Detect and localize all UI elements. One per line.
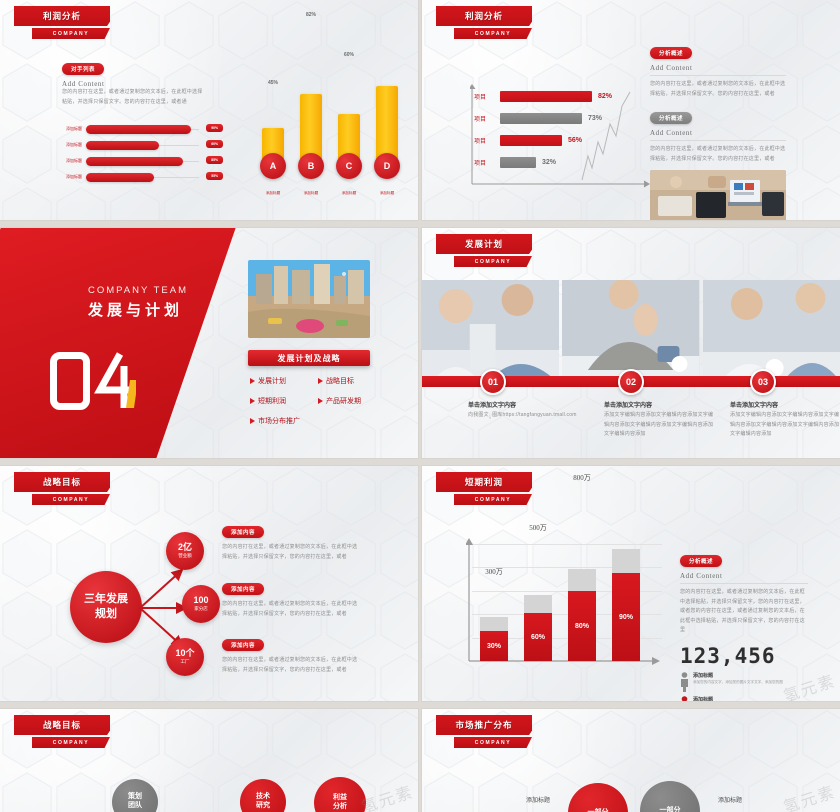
company-subtitle: COMPANY xyxy=(454,28,532,39)
stacked-bar-chart: 300万 30% 500万 60% 800万 80% 1000万 90% xyxy=(458,538,668,683)
center-line2: 规划 xyxy=(84,607,128,622)
badge-analysis-overview: 分析概述 xyxy=(650,112,692,124)
badge-add-content: 添加内容 xyxy=(222,583,264,595)
bar-axis-label: 添加标题 xyxy=(372,191,402,196)
slide-title-ribbon: 短期利润 COMPANY xyxy=(436,472,532,505)
person-gray-icon xyxy=(680,672,689,692)
list-item[interactable]: 战略目标 xyxy=(318,376,380,386)
divider xyxy=(680,583,808,584)
progress-value: 55% xyxy=(206,172,223,180)
center-circle: 三年发展 规划 xyxy=(70,571,142,643)
section-button[interactable]: 发展计划及战略 xyxy=(248,350,370,366)
watermark: 氢元素 xyxy=(780,778,839,812)
list-item[interactable]: 市场分布推广 xyxy=(250,416,312,426)
slide-thumbnail-grid: 利润分析 COMPANY 对手列表 Add Content 您的内容打在这里，或… xyxy=(0,0,840,812)
slide-title: 战略目标 xyxy=(14,472,110,492)
circle-line1: 利益 xyxy=(333,794,347,803)
triangle-bullet-icon xyxy=(318,398,323,404)
slide-thumbnail-5[interactable]: 战略目标 COMPANY 三年发展 规划 2亿 营业额 100 家分店 10个 xyxy=(0,466,418,701)
summary-paragraph: 您的内容打在这里，或者通过复制您的文本后，在此框中选择粘贴，并选择只保留文字，您… xyxy=(680,588,808,636)
progress-label: 添加标题 xyxy=(56,158,82,164)
satellite-unit: 营业额 xyxy=(178,553,192,559)
red-diagonal-band xyxy=(0,228,240,458)
center-line1: 三年发展 xyxy=(84,592,128,607)
circle-technology: 技术 研究 xyxy=(240,779,286,812)
step-text: 添加文字编辑内容添加文字编辑内容添加文字编辑内容添加文字编辑内容添加文字编辑内容… xyxy=(730,411,840,440)
analysis-blocks: 分析概述 Add Content 您的内容打在这里，或者通过复制您的文本后，在此… xyxy=(650,42,786,220)
circle-segment-red: 一部分 xyxy=(568,783,628,812)
bar-value-label: 60% xyxy=(334,52,364,58)
circle-line1: 策划 xyxy=(128,793,142,802)
step-number-02: 02 xyxy=(618,369,644,395)
slide-title-ribbon: 市场推广分布 COMPANY xyxy=(436,715,532,748)
circle-segment-gray: 一部分 xyxy=(640,781,700,812)
bar-value: 82% xyxy=(598,93,612,100)
legend-row-2: 添加标题 添加您的内容文字、添加您的图片文字文字、添加您的图 xyxy=(680,696,808,702)
bar-category: 项目 xyxy=(474,92,500,101)
satellite-circle-3: 10个 工厂 xyxy=(166,638,204,676)
progress-bar-list: 添加标题 90% 添加标题 60% 添加标题 85% 添加标题 55% xyxy=(56,122,221,186)
percent-label: 60% xyxy=(524,613,552,661)
satellite-circle-1: 2亿 营业额 xyxy=(166,532,204,570)
step-heading: 单击添加文字内容 xyxy=(468,400,580,409)
step-card-1: 单击添加文字内容 向我图文ူ图库https://tangfangyuan.tma… xyxy=(468,400,580,421)
step-number-01: 01 xyxy=(480,369,506,395)
right-label: 添加标题 xyxy=(718,795,742,804)
slide-title: 战略目标 xyxy=(14,715,110,735)
legend-heading: 添加标题 xyxy=(693,672,783,679)
company-subtitle: COMPANY xyxy=(32,494,110,505)
slide1-paragraph: 您的内容打在这里，或者通过复制您的文本后，在此框中选择粘贴，并选择只保留文字。您… xyxy=(62,88,204,107)
satellite-value: 100 xyxy=(193,596,208,605)
legend-heading: 添加标题 xyxy=(693,696,783,702)
bar-category: 项目 xyxy=(474,136,500,145)
triangle-bullet-icon xyxy=(250,398,255,404)
big-number: 123,456 xyxy=(680,644,808,668)
progress-value: 90% xyxy=(206,124,223,132)
analysis-paragraph: 您的内容打在这里，或者通过复制您的文本后，在此框中选择粘贴，并选择只保留文字。您… xyxy=(650,80,786,99)
slide-title-ribbon: 利润分析 COMPANY xyxy=(14,6,110,39)
circle-line1: 一部分 xyxy=(660,807,681,812)
meeting-photo-3 xyxy=(703,280,840,384)
detail-text: 您的内容打在这里，或者通过复制您的文本后，在此框中选择粘贴，并选择只保留文字，您… xyxy=(222,656,362,675)
circle-line1: 技术 xyxy=(256,793,270,802)
bar-category: 项目 xyxy=(474,158,500,167)
percent-label: 30% xyxy=(480,631,508,661)
list-item-label: 市场分布推广 xyxy=(258,416,300,426)
person-red-icon xyxy=(680,696,689,702)
bar-category-b: B xyxy=(298,153,324,179)
bar-row: 项目 73% xyxy=(474,110,652,126)
progress-row: 添加标题 60% xyxy=(56,138,221,152)
step-text: 添加文字编辑内容添加文字编辑内容添加文字编辑内容添加文字编辑内容添加文字编辑内容… xyxy=(604,411,716,440)
bar-category-a: A xyxy=(260,153,286,179)
badge-competitor-list: 对手列表 xyxy=(62,63,104,75)
satellite-value: 2亿 xyxy=(178,543,192,552)
detail-text: 您的内容打在这里，或者通过复制您的文本后，在此框中选择粘贴，并选择只保留文字，您… xyxy=(222,600,362,619)
percent-label: 90% xyxy=(612,573,640,661)
slide-title-ribbon: 发展计划 COMPANY xyxy=(436,234,532,267)
bar-axis-label: 添加标题 xyxy=(334,191,364,196)
detail-block-3: 添加内容 您的内容打在这里，或者通过复制您的文本后，在此框中选择粘贴，并选择只保… xyxy=(222,634,362,675)
bar-category: 项目 xyxy=(474,114,500,123)
bar-value-label: 82% xyxy=(296,12,326,18)
satellite-unit: 家分店 xyxy=(194,606,208,612)
circle-line2: 研究 xyxy=(256,802,270,811)
list-item[interactable]: 产品研发期 xyxy=(318,396,380,406)
step-card-3: 单击添加文字内容 添加文字编辑内容添加文字编辑内容添加文字编辑内容添加文字编辑内… xyxy=(730,400,840,440)
circle-benefit: 利益 分析 xyxy=(314,777,366,812)
bar-category-c: C xyxy=(336,153,362,179)
section-number xyxy=(50,352,136,410)
legend-row-1: 添加标题 添加您的内容文字、添加您的图片文字文字、添加您的图 xyxy=(680,672,808,692)
progress-row: 添加标题 85% xyxy=(56,154,221,168)
satellite-circle-2: 100 家分店 xyxy=(182,585,220,623)
city-photo xyxy=(248,260,370,338)
legend-text: 添加您的内容文字、添加您的图片文字文字、添加您的图 xyxy=(693,679,783,685)
progress-row: 添加标题 55% xyxy=(56,170,221,184)
triangle-bullet-icon xyxy=(318,378,323,384)
bar-row: 项目 82% xyxy=(474,88,652,104)
add-content-label: Add Content xyxy=(62,80,204,88)
satellite-unit: 工厂 xyxy=(181,659,190,665)
step-heading: 单击添加文字内容 xyxy=(604,400,716,409)
horizontal-bar-chart: 项目 82% 项目 73% 项目 56% 项目 32% xyxy=(462,84,652,194)
list-item-label: 产品研发期 xyxy=(326,396,361,406)
satellite-value: 10个 xyxy=(175,649,194,658)
slide-thumbnail-3[interactable]: COMPANY TEAM 发展与计划 04 xyxy=(0,228,418,458)
detail-block-1: 添加内容 您的内容打在这里，或者通过复制您的文本后，在此框中选择粘贴，并选择只保… xyxy=(222,521,362,562)
analysis-block: 分析概述 Add Content 您的内容打在这里，或者通过复制您的文本后，在此… xyxy=(650,42,786,99)
total-label: 800万 xyxy=(560,473,604,483)
progress-row: 添加标题 90% xyxy=(56,122,221,136)
add-content-label: Add Content xyxy=(650,129,786,137)
list-item-label: 战略目标 xyxy=(326,376,354,386)
list-item-label: 短期利润 xyxy=(258,396,286,406)
company-subtitle: COMPANY xyxy=(454,256,532,267)
badge-add-content: 添加内容 xyxy=(222,639,264,651)
company-subtitle: COMPANY xyxy=(454,494,532,505)
circle-line1: 一部分 xyxy=(588,809,609,812)
bar-value: 56% xyxy=(568,137,582,144)
slide-title: 利润分析 xyxy=(436,6,532,26)
circle-line2: 团队 xyxy=(128,802,142,811)
section-title: 发展与计划 xyxy=(88,299,183,320)
bar-axis-label: 添加标题 xyxy=(296,191,326,196)
analysis-block: 分析概述 Add Content 您的内容打在这里，或者通过复制您的文本后，在此… xyxy=(650,107,786,164)
list-item[interactable]: 短期利润 xyxy=(250,396,312,406)
progress-label: 添加标题 xyxy=(56,142,82,148)
slide-title: 市场推广分布 xyxy=(436,715,532,735)
bar-value-label: 45% xyxy=(258,80,288,86)
total-label: 300万 xyxy=(472,567,516,577)
badge-analysis-overview: 分析概述 xyxy=(680,555,722,567)
detail-block-2: 添加内容 您的内容打在这里，或者通过复制您的文本后，在此框中选择粘贴，并选择只保… xyxy=(222,578,362,619)
add-content-label: Add Content xyxy=(650,64,786,72)
company-subtitle: COMPANY xyxy=(32,737,110,748)
watermark: 氢元素 xyxy=(358,778,417,812)
digit-four-icon xyxy=(94,352,136,410)
badge-analysis-overview: 分析概述 xyxy=(650,47,692,59)
bar-row: 项目 56% xyxy=(474,132,652,148)
company-subtitle: COMPANY xyxy=(454,737,532,748)
column-chart: 45% A 添加标题 82% B 添加标题 60% C 添加标题 90% D xyxy=(252,66,398,192)
slide-thumbnail-1[interactable]: 利润分析 COMPANY 对手列表 Add Content 您的内容打在这里，或… xyxy=(0,0,418,220)
percent-label: 80% xyxy=(568,591,596,661)
company-subtitle: COMPANY xyxy=(32,28,110,39)
analysis-paragraph: 您的内容打在这里，或者通过复制您的文本后，在此框中选择粘贴，并选择只保留文字。您… xyxy=(650,145,786,164)
bar-axis-label: 添加标题 xyxy=(258,191,288,196)
divider xyxy=(650,75,786,76)
slide-thumbnail-7[interactable]: 战略目标 COMPANY 策划 团队 技术 研究 利益 分析 氢元素 xyxy=(0,709,418,812)
slide-title-ribbon: 利润分析 COMPANY xyxy=(436,6,532,39)
slide-thumbnail-2[interactable]: 利润分析 COMPANY 项目 82% 项目 73% xyxy=(422,0,840,220)
bar-value: 73% xyxy=(588,115,602,122)
step-number-03: 03 xyxy=(750,369,776,395)
triangle-bullet-icon xyxy=(250,378,255,384)
section-eyebrow: COMPANY TEAM xyxy=(88,285,188,296)
step-card-2: 单击添加文字内容 添加文字编辑内容添加文字编辑内容添加文字编辑内容添加文字编辑内… xyxy=(604,400,716,440)
slide-thumbnail-4[interactable]: 发展计划 COMPANY xyxy=(422,228,840,458)
bar-row: 项目 32% xyxy=(474,154,652,170)
progress-value: 85% xyxy=(206,156,223,164)
slide-title-ribbon: 战略目标 COMPANY xyxy=(14,472,110,505)
step-text: 向我图文ူ图库https://tangfangyuan.tmall.com xyxy=(468,411,580,421)
progress-value: 60% xyxy=(206,140,223,148)
list-item-label: 发展计划 xyxy=(258,376,286,386)
list-item[interactable]: 发展计划 xyxy=(250,376,312,386)
progress-label: 添加标题 xyxy=(56,174,82,180)
slide-thumbnail-8[interactable]: 市场推广分布 COMPANY 添加标题 一部分 一部分 添加标题 氢元素 xyxy=(422,709,840,812)
competitor-list-block: 对手列表 Add Content 您的内容打在这里，或者通过复制您的文本后，在此… xyxy=(62,58,204,107)
slide-title: 利润分析 xyxy=(14,6,110,26)
circle-planning: 策划 团队 xyxy=(112,779,158,812)
total-label: 500万 xyxy=(516,523,560,533)
circle-line2: 分析 xyxy=(333,803,347,812)
badge-add-content: 添加内容 xyxy=(222,526,264,538)
step-heading: 单击添加文字内容 xyxy=(730,400,840,409)
slide-title-ribbon: 战略目标 COMPANY xyxy=(14,715,110,748)
bar-category-d: D xyxy=(374,153,400,179)
left-label: 添加标题 xyxy=(526,795,550,804)
bar-value-label: 90% xyxy=(372,0,402,2)
bar-value: 32% xyxy=(542,159,556,166)
triangle-bullet-icon xyxy=(250,418,255,424)
section-item-list: 发展计划 战略目标 短期利润 产品研发期 市场分布推广 xyxy=(250,376,380,426)
divider xyxy=(650,140,786,141)
digit-zero-icon xyxy=(50,352,90,410)
add-content-label: Add Content xyxy=(680,572,808,580)
slide-title: 短期利润 xyxy=(436,472,532,492)
meeting-photo xyxy=(650,170,786,220)
summary-panel: 分析概述 Add Content 您的内容打在这里，或者通过复制您的文本后，在此… xyxy=(680,550,808,701)
progress-label: 添加标题 xyxy=(56,126,82,132)
detail-text: 您的内容打在这里，或者通过复制您的文本后，在此框中选择粘贴，并选择只保留文字，您… xyxy=(222,543,362,562)
slide-title: 发展计划 xyxy=(436,234,532,254)
slide-thumbnail-6[interactable]: 短期利润 COMPANY 300万 30% 500万 60% xyxy=(422,466,840,701)
